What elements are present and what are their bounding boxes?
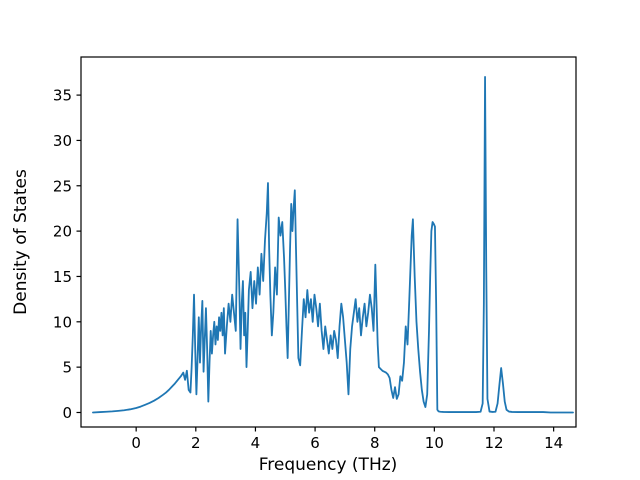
x-tick-label: 0 <box>131 434 141 452</box>
x-axis-ticks: 02468101214 <box>131 427 563 452</box>
y-tick-label: 5 <box>62 359 72 377</box>
x-tick-label: 6 <box>310 434 320 452</box>
y-tick-label: 0 <box>62 404 72 422</box>
y-axis-title: Density of States <box>11 169 31 315</box>
y-tick-label: 35 <box>53 87 72 105</box>
y-tick-label: 30 <box>53 132 72 150</box>
x-tick-label: 2 <box>191 434 201 452</box>
y-axis-ticks: 05101520253035 <box>53 87 81 422</box>
x-tick-label: 12 <box>484 434 503 452</box>
y-tick-label: 25 <box>53 177 72 195</box>
x-axis-title: Frequency (THz) <box>259 455 398 475</box>
y-tick-label: 20 <box>53 223 72 241</box>
x-tick-label: 4 <box>251 434 261 452</box>
x-tick-label: 10 <box>425 434 444 452</box>
y-tick-label: 15 <box>53 268 72 286</box>
y-tick-label: 10 <box>53 313 72 331</box>
x-tick-label: 14 <box>544 434 563 452</box>
figure-canvas: 02468101214 05101520253035 Frequency (TH… <box>0 0 640 480</box>
x-tick-label: 8 <box>370 434 380 452</box>
dos-plot: 02468101214 05101520253035 Frequency (TH… <box>0 0 640 480</box>
